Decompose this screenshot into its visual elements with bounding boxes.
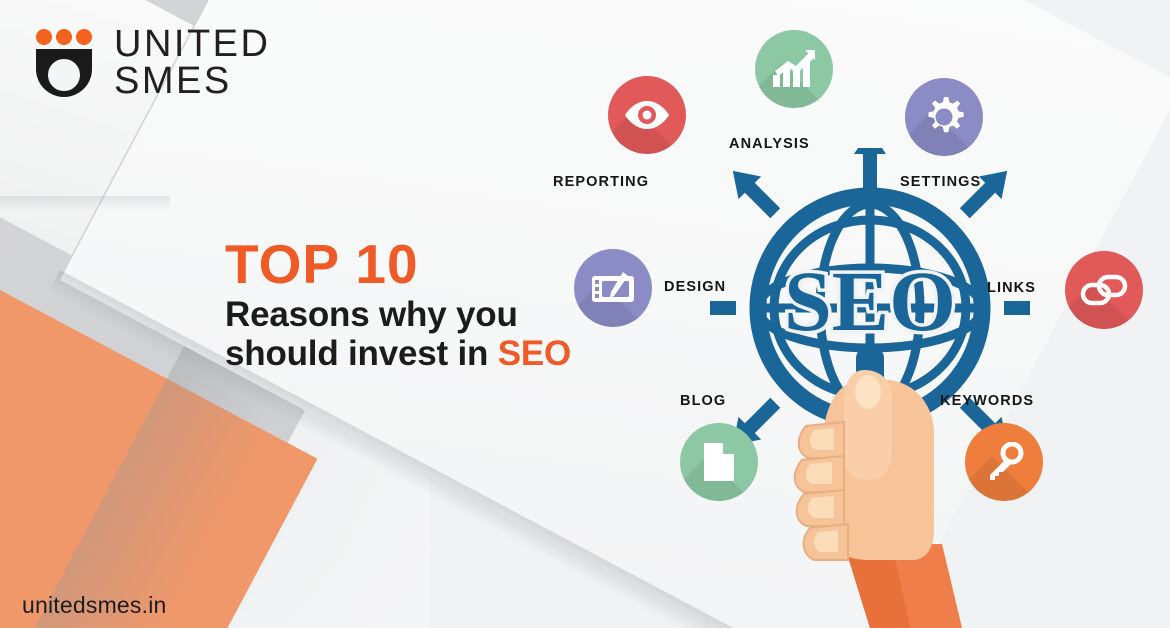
reporting-circle [608, 76, 686, 154]
arrow-right [1004, 292, 1030, 324]
headline-line2-prefix: should invest in [225, 334, 498, 373]
design-circle [574, 249, 652, 327]
logo-inner-circle [44, 55, 84, 95]
reporting-label: REPORTING [553, 174, 649, 190]
keywords-label: KEYWORDS [940, 393, 1034, 409]
settings-label: SETTINGS [900, 174, 981, 190]
thumb-nail [855, 375, 881, 409]
logo-wordmark-line1: UNITED [114, 26, 270, 63]
links-circle [1065, 251, 1143, 329]
headline-top: TOP 10 [225, 236, 571, 292]
node-design: DESIGN [574, 249, 652, 327]
seo-banner: UNITED SMES TOP 10 Reasons why you shoul… [0, 0, 1170, 628]
logo-wordmark-line2: SMES [114, 63, 270, 100]
bar-chart-icon [771, 49, 817, 89]
headline-line2: should invest in SEO [225, 334, 571, 373]
blog-circle [680, 423, 758, 501]
tablet-pen-icon [590, 270, 636, 306]
analysis-circle [755, 30, 833, 108]
headline-line1: Reasons why you [225, 295, 571, 334]
chain-link-icon [1080, 273, 1128, 307]
node-keywords: KEYWORDS [965, 423, 1043, 501]
node-settings: SETTINGS [905, 78, 983, 156]
background-notch-edge [0, 196, 170, 210]
settings-circle [905, 78, 983, 156]
node-analysis: ANALYSIS [755, 30, 833, 108]
eye-icon [623, 99, 671, 131]
footer-url: unitedsmes.in [22, 592, 167, 619]
logo-mark-icon [34, 29, 96, 97]
analysis-label: ANALYSIS [729, 136, 810, 152]
logo-body-shape [36, 49, 92, 97]
blog-label: BLOG [680, 393, 726, 409]
logo-wordmark: UNITED SMES [114, 26, 270, 100]
node-links: LINKS [1065, 251, 1143, 329]
brand-logo: UNITED SMES [34, 26, 270, 100]
gear-icon [923, 96, 965, 138]
logo-dot-icon [56, 29, 72, 45]
node-blog: BLOG [680, 423, 758, 501]
links-label: LINKS [987, 280, 1036, 296]
logo-dot-icon [36, 29, 52, 45]
seo-diagram: SEO [560, 8, 1170, 628]
headline-block: TOP 10 Reasons why you should invest in … [225, 236, 571, 373]
design-label: DESIGN [664, 279, 726, 295]
background-orange-band [0, 130, 317, 628]
arrow-up [854, 148, 886, 188]
headline-subtext: Reasons why you should invest in SEO [225, 295, 571, 373]
globe-seo-text: SEO [784, 253, 956, 349]
logo-dot-icon [76, 29, 92, 45]
document-icon [702, 441, 736, 483]
hand-icon [792, 348, 962, 628]
keywords-circle [965, 423, 1043, 501]
node-reporting: REPORTING [608, 76, 686, 154]
key-icon [984, 442, 1024, 482]
arrow-down-left [722, 160, 787, 225]
arrow-down-right [953, 160, 1018, 225]
arrow-left [710, 292, 736, 324]
